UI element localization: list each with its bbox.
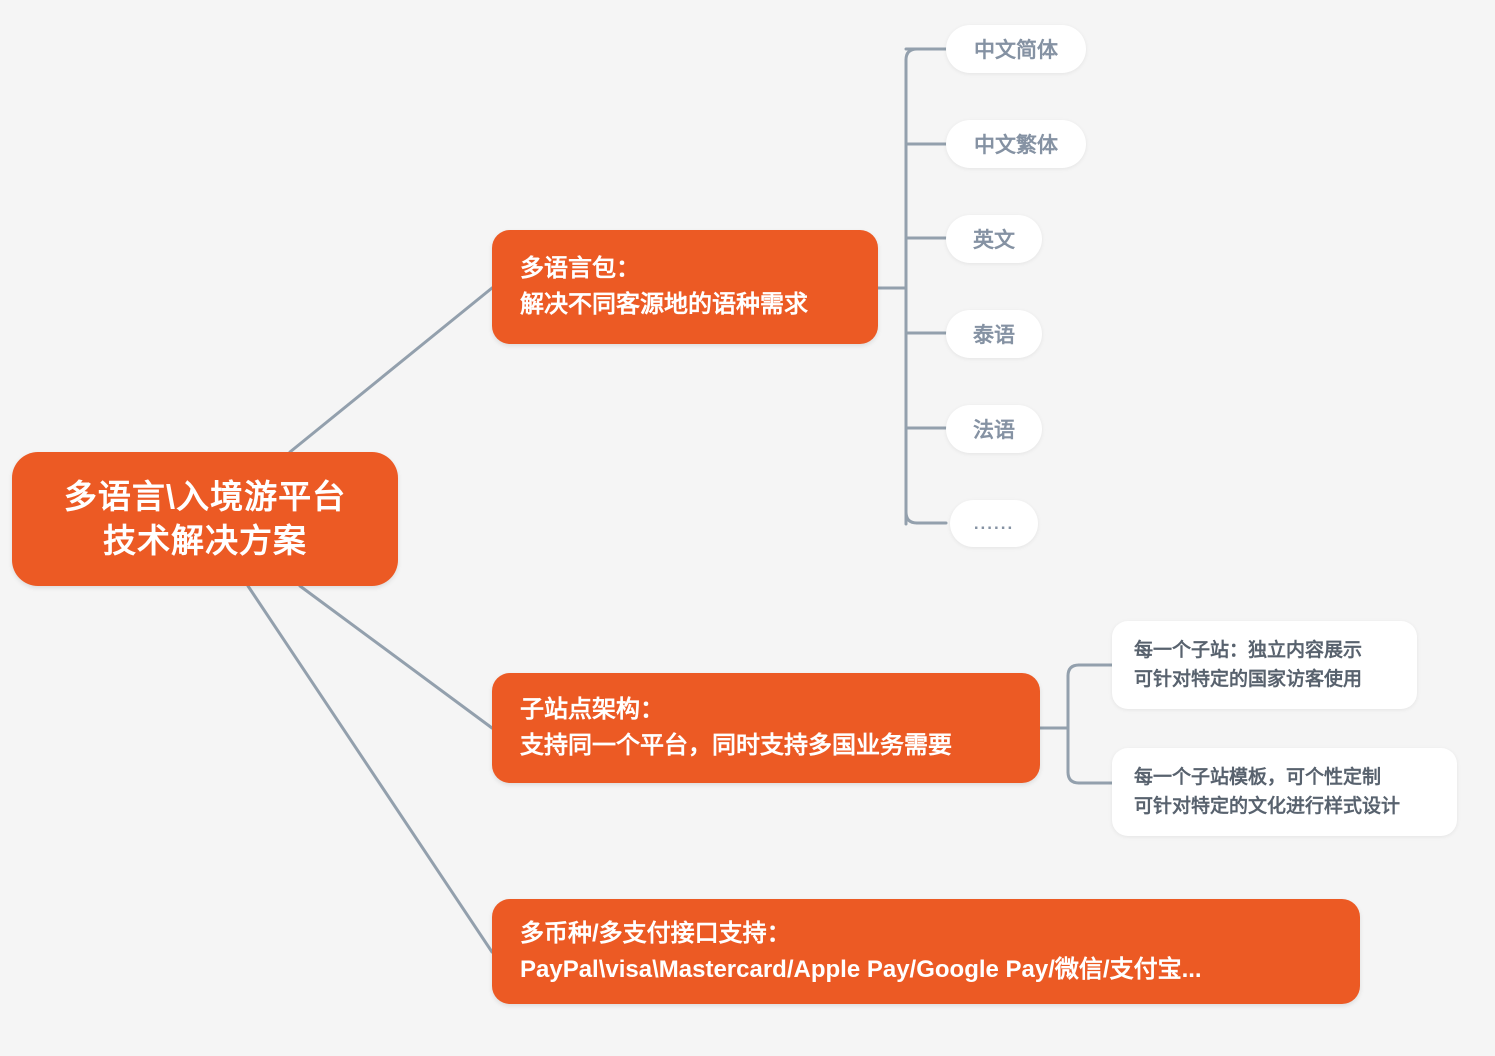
language-pill-label: 法语 xyxy=(973,414,1015,444)
mindmap-canvas: 多语言\入境游平台 技术解决方案 多语言包： 解决不同客源地的语种需求 中文简体… xyxy=(0,0,1495,1056)
language-pill-label: 中文繁体 xyxy=(974,129,1058,159)
language-pill-zh-hant[interactable]: 中文繁体 xyxy=(946,120,1086,168)
subsite-detail-content[interactable]: 每一个子站：独立内容展示 可针对特定的国家访客使用 xyxy=(1112,621,1417,709)
language-pill-english[interactable]: 英文 xyxy=(946,215,1042,263)
branch-payment-title: 多币种/多支付接口支持： xyxy=(520,916,1332,952)
language-pill-label: 英文 xyxy=(973,224,1015,254)
branch-multilang-subtitle: 解决不同客源地的语种需求 xyxy=(520,287,850,323)
language-pill-thai[interactable]: 泰语 xyxy=(946,310,1042,358)
connector-root-to-payment xyxy=(248,586,492,952)
connector-multilang-trunk-bottom-corner xyxy=(906,512,917,523)
connector-multilang-trunk-top-corner xyxy=(906,49,917,60)
language-pill-french[interactable]: 法语 xyxy=(946,405,1042,453)
subsite-detail-line2: 可针对特定的国家访客使用 xyxy=(1134,665,1395,694)
subsite-detail-line1: 每一个子站模板，可个性定制 xyxy=(1134,763,1435,792)
branch-multilang-title: 多语言包： xyxy=(520,251,850,287)
branch-subsite-subtitle: 支持同一个平台，同时支持多国业务需要 xyxy=(520,728,1012,764)
subsite-detail-line1: 每一个子站：独立内容展示 xyxy=(1134,636,1395,665)
language-pill-label: ...... xyxy=(974,515,1014,532)
connector-subsite-trunk-top-corner xyxy=(1068,665,1079,676)
root-node-line1: 多语言\入境游平台 xyxy=(64,475,346,519)
branch-node-subsite[interactable]: 子站点架构： 支持同一个平台，同时支持多国业务需要 xyxy=(492,673,1040,783)
subsite-detail-template[interactable]: 每一个子站模板，可个性定制 可针对特定的文化进行样式设计 xyxy=(1112,748,1457,836)
subsite-detail-line2: 可针对特定的文化进行样式设计 xyxy=(1134,792,1435,821)
language-pill-label: 中文简体 xyxy=(974,34,1058,64)
root-node-line2: 技术解决方案 xyxy=(103,519,307,563)
branch-node-payment[interactable]: 多币种/多支付接口支持： PayPal\visa\Mastercard/Appl… xyxy=(492,899,1360,1004)
branch-node-multilang[interactable]: 多语言包： 解决不同客源地的语种需求 xyxy=(492,230,878,344)
connector-subsite-trunk-bottom-corner xyxy=(1068,772,1079,783)
language-pill-label: 泰语 xyxy=(973,319,1015,349)
branch-subsite-title: 子站点架构： xyxy=(520,692,1012,728)
language-pill-zh-hans[interactable]: 中文简体 xyxy=(946,25,1086,73)
connector-root-to-subsite xyxy=(300,586,492,728)
branch-payment-subtitle: PayPal\visa\Mastercard/Apple Pay/Google … xyxy=(520,952,1332,988)
root-node[interactable]: 多语言\入境游平台 技术解决方案 xyxy=(12,452,398,586)
language-pill-more[interactable]: ...... xyxy=(950,500,1038,547)
connector-root-to-multilang xyxy=(290,288,492,452)
